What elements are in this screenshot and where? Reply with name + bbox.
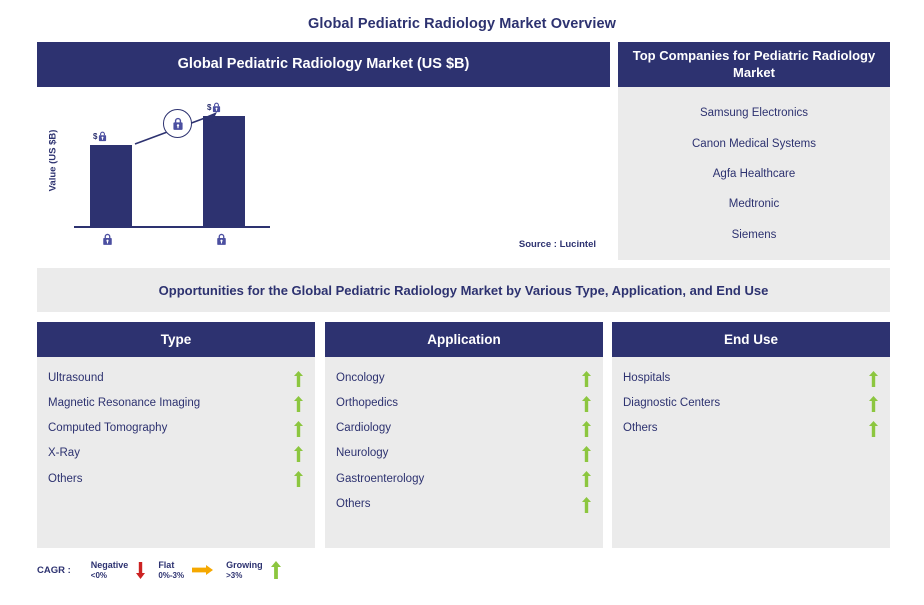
arrow-up-icon	[869, 396, 878, 412]
list-item: Medtronic	[618, 190, 890, 220]
arrow-down-icon	[136, 562, 145, 579]
chart-x-tick-2-lock-icon	[216, 233, 227, 246]
chart-y-axis-label: Value (US $B)	[48, 116, 59, 206]
arrow-right-icon	[192, 565, 213, 575]
category-row-label: Others	[336, 499, 371, 511]
cagr-legend-text-growing: Growing >3%	[226, 560, 263, 580]
category-header-end-use: End Use	[612, 322, 890, 357]
chart-bar-1-value-label: $	[93, 131, 107, 142]
lock-icon	[98, 131, 107, 142]
list-item: Others	[336, 492, 591, 517]
list-item: Canon Medical Systems	[618, 129, 890, 159]
list-item: Ultrasound	[48, 366, 303, 391]
chart-bar-1	[90, 145, 132, 226]
category-row-label: Oncology	[336, 373, 385, 385]
category-row-label: Computed Tomography	[48, 423, 167, 435]
category-body-application: Oncology Orthopedics Cardiology Neurolog…	[325, 357, 603, 548]
cagr-legend-range: <0%	[91, 571, 129, 580]
category-row-label: X-Ray	[48, 448, 80, 460]
category-row-label: Gastroenterology	[336, 474, 424, 486]
list-item: X-Ray	[48, 442, 303, 467]
list-item: Siemens	[618, 220, 890, 250]
top-companies-panel: Top Companies for Pediatric Radiology Ma…	[618, 42, 890, 260]
cagr-legend-title: CAGR :	[37, 565, 71, 576]
category-row-label: Hospitals	[623, 373, 670, 385]
chart-x-tick-1-lock-icon	[102, 233, 113, 246]
arrow-up-icon	[869, 371, 878, 387]
category-panel-end-use: End Use Hospitals Diagnostic Centers Oth…	[612, 322, 890, 548]
arrow-up-icon	[294, 471, 303, 487]
arrow-up-icon	[271, 561, 281, 579]
arrow-up-icon	[582, 371, 591, 387]
category-row-label: Cardiology	[336, 423, 391, 435]
cagr-legend-range: 0%-3%	[158, 571, 184, 580]
category-header-type: Type	[37, 322, 315, 357]
list-item: Orthopedics	[336, 391, 591, 416]
chart-source-note: Source : Lucintel	[519, 239, 596, 250]
category-body-type: Ultrasound Magnetic Resonance Imaging Co…	[37, 357, 315, 548]
list-item: Magnetic Resonance Imaging	[48, 391, 303, 416]
cagr-legend-text-negative: Negative <0%	[91, 560, 129, 580]
arrow-up-icon	[294, 421, 303, 437]
cagr-legend-name: Negative	[91, 560, 129, 570]
top-companies-header: Top Companies for Pediatric Radiology Ma…	[618, 42, 890, 87]
category-row-label: Others	[623, 423, 658, 435]
dollar-sign: $	[93, 132, 97, 141]
list-item: Samsung Electronics	[618, 99, 890, 129]
arrow-up-icon	[582, 421, 591, 437]
cagr-legend-item-flat: Flat 0%-3%	[158, 560, 213, 580]
list-item: Gastroenterology	[336, 467, 591, 492]
category-row-label: Orthopedics	[336, 398, 398, 410]
arrow-up-icon	[582, 497, 591, 513]
market-chart-body: Value (US $B) $ $	[37, 87, 610, 260]
top-companies-body: Samsung Electronics Canon Medical System…	[618, 87, 890, 260]
infographic-page: Global Pediatric Radiology Market Overvi…	[0, 0, 924, 605]
page-title: Global Pediatric Radiology Market Overvi…	[0, 16, 924, 32]
category-row-label: Diagnostic Centers	[623, 398, 720, 410]
list-item: Oncology	[336, 366, 591, 391]
chart-cagr-bubble	[163, 109, 192, 138]
arrow-up-icon	[869, 421, 878, 437]
opportunities-banner: Opportunities for the Global Pediatric R…	[37, 268, 890, 312]
list-item: Hospitals	[623, 366, 878, 391]
arrow-up-icon	[294, 396, 303, 412]
chart-x-axis	[74, 226, 270, 228]
arrow-up-icon	[582, 471, 591, 487]
list-item: Others	[48, 467, 303, 492]
category-panel-type: Type Ultrasound Magnetic Resonance Imagi…	[37, 322, 315, 548]
cagr-legend-text-flat: Flat 0%-3%	[158, 560, 184, 580]
list-item: Computed Tomography	[48, 416, 303, 441]
category-body-end-use: Hospitals Diagnostic Centers Others	[612, 357, 890, 548]
list-item: Others	[623, 416, 878, 441]
cagr-legend-range: >3%	[226, 571, 263, 580]
cagr-legend-name: Flat	[158, 560, 184, 570]
market-chart-panel: Global Pediatric Radiology Market (US $B…	[37, 42, 610, 260]
category-row-label: Neurology	[336, 448, 388, 460]
category-row-label: Others	[48, 474, 83, 486]
arrow-up-icon	[294, 446, 303, 462]
cagr-legend-item-negative: Negative <0%	[91, 560, 146, 580]
arrow-up-icon	[582, 396, 591, 412]
opportunities-banner-text: Opportunities for the Global Pediatric R…	[159, 283, 769, 298]
list-item: Cardiology	[336, 416, 591, 441]
list-item: Agfa Healthcare	[618, 160, 890, 190]
cagr-legend-item-growing: Growing >3%	[226, 560, 281, 580]
lock-icon	[172, 117, 184, 131]
category-row-label: Ultrasound	[48, 373, 104, 385]
list-item: Neurology	[336, 442, 591, 467]
cagr-legend-name: Growing	[226, 560, 263, 570]
category-row-label: Magnetic Resonance Imaging	[48, 398, 200, 410]
cagr-legend: CAGR : Negative <0% Flat 0%-3% Growing >…	[37, 556, 294, 584]
arrow-up-icon	[582, 446, 591, 462]
arrow-up-icon	[294, 371, 303, 387]
market-chart-header: Global Pediatric Radiology Market (US $B…	[37, 42, 610, 87]
category-panel-application: Application Oncology Orthopedics Cardiol…	[325, 322, 603, 548]
category-header-application: Application	[325, 322, 603, 357]
list-item: Diagnostic Centers	[623, 391, 878, 416]
